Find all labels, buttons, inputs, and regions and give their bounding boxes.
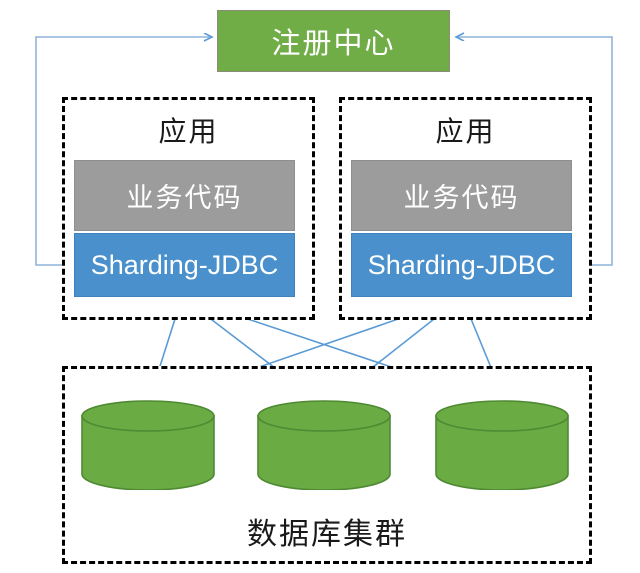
registry-center-box[interactable]: 注册中心 — [217, 10, 450, 72]
diagram-canvas: 注册中心 应用 业务代码 Sharding-JDBC 应用 业务代码 Shard… — [0, 0, 640, 573]
application-group-left[interactable]: 应用 业务代码 Sharding-JDBC — [62, 97, 315, 320]
sharding-jdbc-box-left[interactable]: Sharding-JDBC — [74, 233, 295, 297]
sharding-jdbc-label-left: Sharding-JDBC — [91, 250, 279, 281]
database-node-1[interactable] — [80, 400, 216, 490]
business-code-label-right: 业务代码 — [404, 176, 520, 215]
database-cylinder-icon — [80, 400, 216, 490]
business-code-box-left[interactable]: 业务代码 — [74, 160, 295, 231]
database-cluster-label: 数据库集群 — [65, 509, 589, 553]
sharding-jdbc-label-right: Sharding-JDBC — [368, 250, 556, 281]
business-code-box-right[interactable]: 业务代码 — [351, 160, 572, 231]
database-cylinder-icon — [256, 400, 392, 490]
application-title-left: 应用 — [65, 110, 312, 150]
registry-center-label: 注册中心 — [271, 20, 395, 62]
sharding-jdbc-box-right[interactable]: Sharding-JDBC — [351, 233, 572, 297]
application-title-right: 应用 — [342, 110, 589, 150]
database-cylinder-icon — [434, 400, 570, 490]
database-node-3[interactable] — [434, 400, 570, 490]
business-code-label-left: 业务代码 — [127, 176, 243, 215]
application-group-right[interactable]: 应用 业务代码 Sharding-JDBC — [339, 97, 592, 320]
database-node-2[interactable] — [256, 400, 392, 490]
